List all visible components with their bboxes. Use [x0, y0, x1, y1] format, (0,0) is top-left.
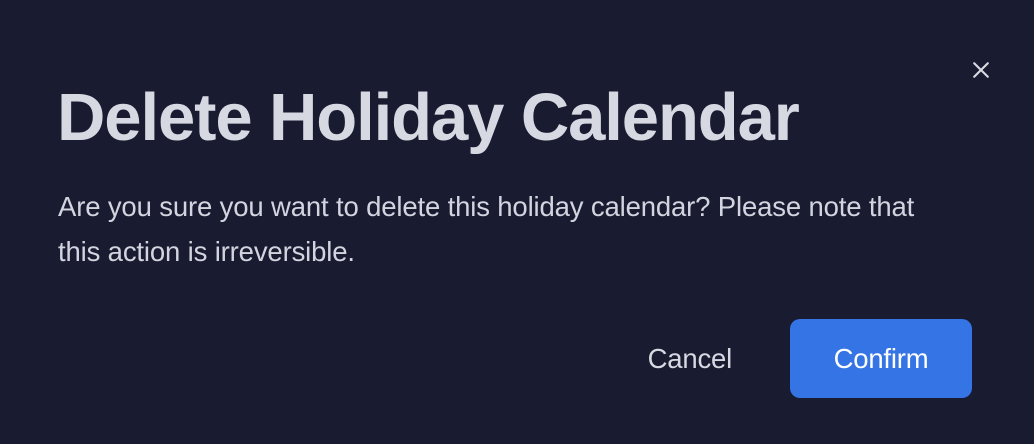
close-button[interactable]	[961, 50, 1001, 90]
close-icon	[971, 60, 991, 80]
confirm-button[interactable]: Confirm	[790, 319, 972, 398]
modal-overlay: Delete Holiday Calendar Are you sure you…	[0, 0, 1034, 444]
page-title: Delete Holiday Calendar	[57, 80, 799, 156]
delete-holiday-calendar-dialog: Delete Holiday Calendar Are you sure you…	[0, 0, 1034, 444]
dialog-actions: Cancel Confirm	[0, 319, 972, 398]
cancel-button[interactable]: Cancel	[646, 337, 734, 381]
dialog-message: Are you sure you want to delete this hol…	[58, 184, 948, 274]
